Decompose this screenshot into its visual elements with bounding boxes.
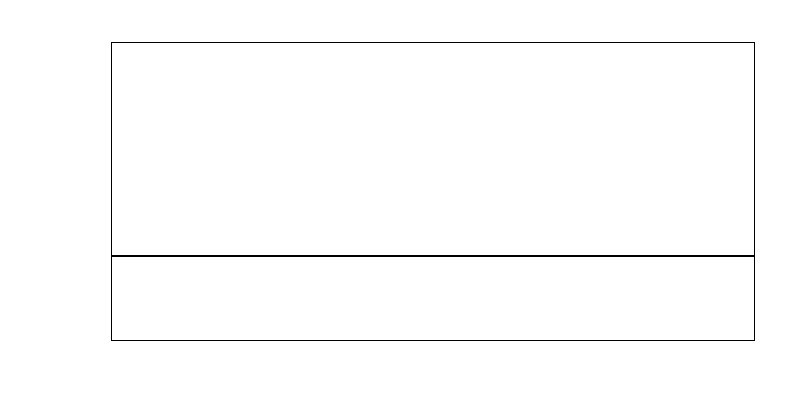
error-plot-area [112, 257, 754, 340]
error-axes [111, 256, 755, 341]
figure-canvas [0, 0, 800, 400]
spectrum-axes [111, 42, 755, 256]
spectrum-plot-area [112, 43, 754, 255]
